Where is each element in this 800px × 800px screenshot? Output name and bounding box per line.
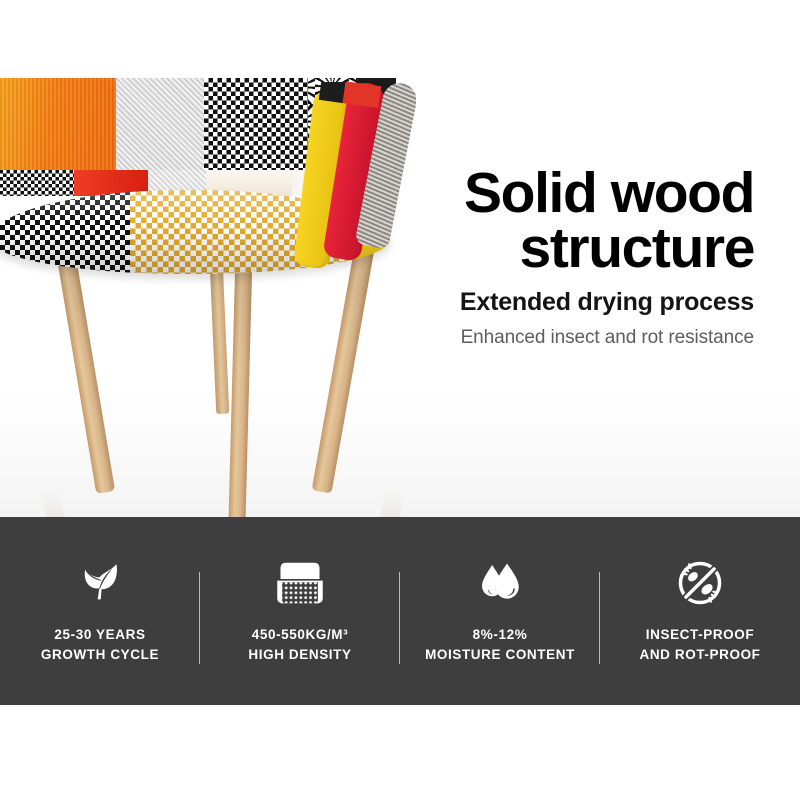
headline: Solid wood structure [324, 166, 754, 275]
feature-label: 450-550KG/M³ HIGH DENSITY [248, 625, 351, 666]
subheadline: Extended drying process [324, 287, 754, 318]
feature-label-line-2: GROWTH CYCLE [41, 645, 159, 665]
hero-photo: Solid wood structure Extended drying pro… [0, 0, 800, 517]
leg-reflection [42, 489, 66, 517]
feature-growth-cycle: 25-30 YEARS GROWTH CYCLE [0, 517, 200, 705]
patch-orange-velvet [0, 78, 116, 170]
feature-label: 8%-12% MOISTURE CONTENT [425, 625, 575, 666]
feature-insect-proof: INSECT-PROOF AND ROT-PROOF [600, 517, 800, 705]
product-marketing-image: Solid wood structure Extended drying pro… [0, 0, 800, 800]
feature-label-line-2: AND ROT-PROOF [639, 645, 760, 665]
feature-label: INSECT-PROOF AND ROT-PROOF [639, 625, 760, 666]
caption-text: Enhanced insect and rot resistance [324, 326, 754, 351]
feature-bar: 25-30 YEARS GROWTH CYCLE [0, 517, 800, 705]
insect-proof-icon [675, 557, 725, 609]
feature-label-line-1: 25-30 YEARS [41, 625, 159, 645]
chair-leg [228, 234, 253, 517]
feature-label: 25-30 YEARS GROWTH CYCLE [41, 625, 159, 666]
feature-high-density: 450-550KG/M³ HIGH DENSITY [200, 517, 400, 705]
leg-reflection [379, 489, 405, 517]
feature-label-line-1: 450-550KG/M³ [248, 625, 351, 645]
water-droplets-icon [475, 557, 525, 609]
headline-line-2: structure [324, 221, 754, 276]
leaf-icon [75, 557, 125, 609]
feature-label-line-1: INSECT-PROOF [639, 625, 760, 645]
feature-label-line-2: MOISTURE CONTENT [425, 645, 575, 665]
feature-moisture-content: 8%-12% MOISTURE CONTENT [400, 517, 600, 705]
headline-block: Solid wood structure Extended drying pro… [324, 166, 754, 350]
feature-label-line-2: HIGH DENSITY [248, 645, 351, 665]
density-block-icon [274, 557, 326, 609]
feature-label-line-1: 8%-12% [425, 625, 575, 645]
patch-grey-weave [116, 78, 204, 170]
